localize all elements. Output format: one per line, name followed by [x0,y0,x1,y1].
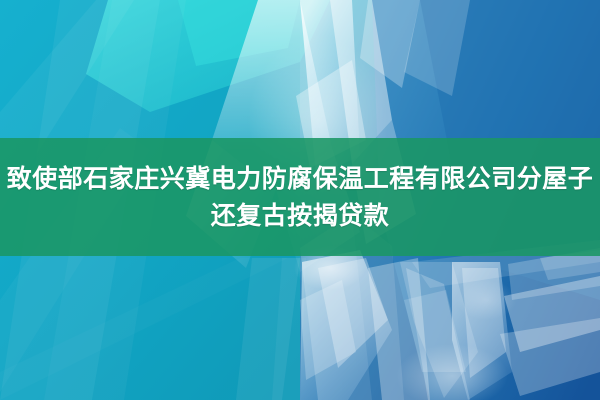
caption-band: 致使部石家庄兴冀电力防腐保温工程有限公司分屋子还复古按揭贷款 [0,138,600,256]
banner-image: 致使部石家庄兴冀电力防腐保温工程有限公司分屋子还复古按揭贷款 [0,0,600,400]
caption-headline: 致使部石家庄兴冀电力防腐保温工程有限公司分屋子还复古按揭贷款 [6,160,594,234]
